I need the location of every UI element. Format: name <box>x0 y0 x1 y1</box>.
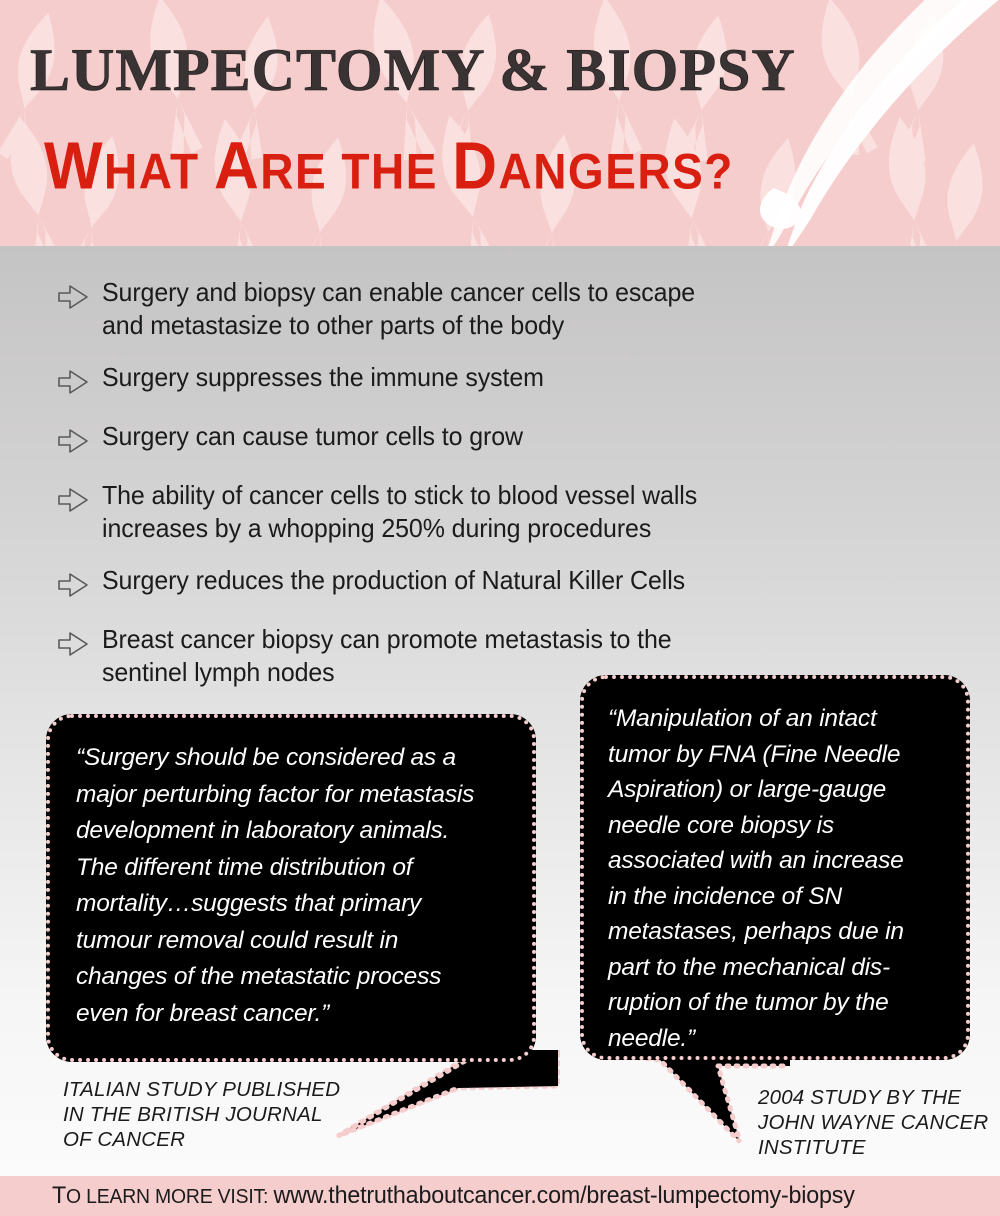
arrow-right-outline-icon <box>56 283 92 316</box>
subtitle-d: D <box>452 129 498 204</box>
danger-bullet-list: Surgery and biopsy can enable cancer cel… <box>56 276 936 708</box>
bullet-item: Surgery and biopsy can enable cancer cel… <box>56 276 936 342</box>
poster-header: LUMPECTOMY & BIOPSY WHAT ARE THE DANGERS… <box>0 0 1000 246</box>
bullet-item-label: Surgery and biopsy can enable cancer cel… <box>102 276 695 342</box>
arrow-right-outline-icon <box>56 368 92 401</box>
bullet-item: Surgery reduces the production of Natura… <box>56 564 936 604</box>
subtitle-a: A <box>214 129 260 204</box>
subtitle-w: W <box>44 129 104 204</box>
bullet-item: Surgery can cause tumor cells to grow <box>56 420 936 460</box>
subtitle-hat: HAT <box>104 143 214 199</box>
subtitle-angers: ANGERS? <box>498 143 733 199</box>
bullet-item-label: Breast cancer biopsy can promote metasta… <box>102 623 672 689</box>
arrow-right-outline-icon <box>56 486 92 519</box>
quote-left-text: “Surgery should be considered as a major… <box>76 740 508 1032</box>
bullet-item-label: Surgery can cause tumor cells to grow <box>102 420 523 453</box>
quote-right-text: “Manipulation of an intact tumor by FNA … <box>608 701 946 1056</box>
footer-label-rest: O LEARN MORE VISIT: <box>66 1186 273 1208</box>
arrow-right-outline-icon <box>56 630 92 663</box>
subtitle-re: RE <box>260 143 341 199</box>
bullet-item-label: Surgery reduces the production of Natura… <box>102 564 685 597</box>
quote-bubble-left: “Surgery should be considered as a major… <box>46 714 536 1062</box>
page-title: LUMPECTOMY & BIOPSY <box>30 36 970 105</box>
arrow-right-outline-icon <box>56 427 92 460</box>
footer-label-to: T <box>52 1182 66 1209</box>
poster-footer: TO LEARN MORE VISIT: www.thetruthaboutca… <box>0 1176 1000 1216</box>
bullet-item-label: Surgery suppresses the immune system <box>102 361 544 394</box>
quote-right-attribution: 2004 STUDY BY THE JOHN WAYNE CANCER INST… <box>758 1085 1000 1160</box>
bullet-item-label: The ability of cancer cells to stick to … <box>102 479 697 545</box>
quote-bubble-right: “Manipulation of an intact tumor by FNA … <box>580 675 970 1060</box>
bullet-item: Surgery suppresses the immune system <box>56 361 936 401</box>
infographic-poster: LUMPECTOMY & BIOPSY WHAT ARE THE DANGERS… <box>0 0 1000 1216</box>
subtitle-the: THE <box>341 143 452 199</box>
footer-link-text[interactable]: TO LEARN MORE VISIT: www.thetruthaboutca… <box>52 1182 855 1210</box>
footer-url[interactable]: www.thetruthaboutcancer.com/breast-lumpe… <box>273 1182 854 1209</box>
page-subtitle: WHAT ARE THE DANGERS? <box>44 128 984 205</box>
arrow-right-outline-icon <box>56 571 92 604</box>
bullet-item: The ability of cancer cells to stick to … <box>56 479 936 545</box>
quote-left-attribution: ITALIAN STUDY PUBLISHED IN THE BRITISH J… <box>63 1077 393 1152</box>
